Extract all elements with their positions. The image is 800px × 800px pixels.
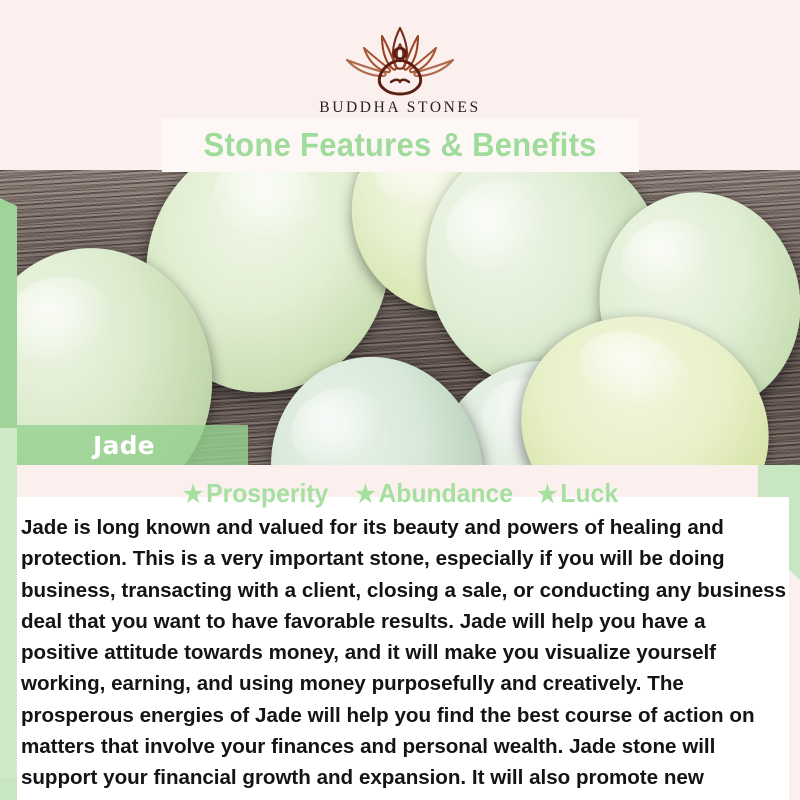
- description-block: Jade is long known and valued for its be…: [17, 508, 789, 800]
- benefit-label: Prosperity: [206, 478, 328, 508]
- stone-name-label: Jade: [17, 431, 155, 460]
- title-banner: Stone Features & Benefits: [162, 118, 639, 172]
- benefit-item-luck: ★Luck: [538, 478, 619, 509]
- stone-benefits-card: BUDDHA STONES Stone Features & Benefits …: [0, 0, 800, 800]
- benefit-label: Luck: [561, 478, 619, 508]
- stone-name-band: Jade: [17, 425, 248, 465]
- benefit-item-prosperity: ★Prosperity: [183, 478, 328, 509]
- star-icon: ★: [355, 481, 375, 508]
- star-icon: ★: [183, 481, 203, 508]
- brand-name: BUDDHA STONES: [319, 99, 480, 117]
- decor-left-lower-bar: [0, 428, 17, 778]
- benefit-item-abundance: ★Abundance: [355, 478, 513, 509]
- page-title: Stone Features & Benefits: [204, 126, 597, 164]
- stone-photo: [0, 170, 800, 465]
- benefit-label: Abundance: [378, 478, 512, 508]
- star-icon: ★: [538, 481, 558, 508]
- benefits-row: ★Prosperity ★Abundance ★Luck: [0, 478, 800, 509]
- lotus-meditation-icon: [325, 22, 475, 96]
- description-text: Jade is long known and valued for its be…: [17, 512, 789, 800]
